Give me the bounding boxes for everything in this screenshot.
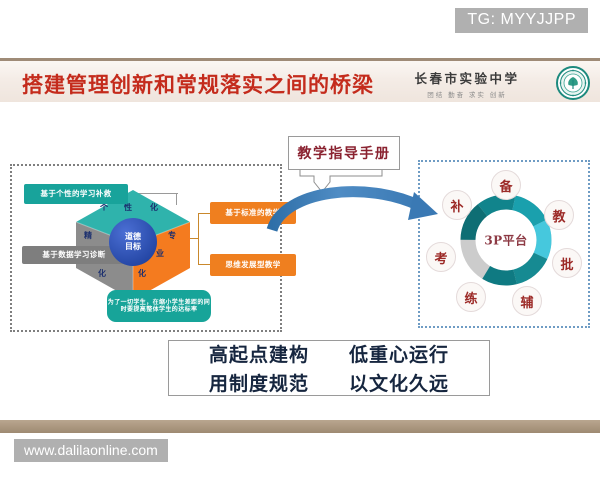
motto-box: 高起点建构 低重心运行 用制度规范 以文化久远	[168, 340, 490, 396]
slide-header-banner: 搭建管理创新和常规落实之间的桥梁 长春市实验中学 团结 勤奋 求实 创新	[0, 58, 600, 102]
node-kao[interactable]: 考	[426, 242, 456, 272]
hexagon-core-line1: 道德	[125, 232, 141, 242]
hex-char-zhuan: 专	[168, 230, 176, 241]
school-branding: 长春市实验中学 团结 勤奋 求实 创新	[392, 68, 542, 99]
node-bei[interactable]: 备	[491, 170, 521, 200]
left-diagram-panel: 个 性 化 精 确 化 专 业 化 道德 目标 基于个性的学习补救 基于数据学习…	[10, 164, 282, 332]
node-lian[interactable]: 练	[456, 282, 486, 312]
slide-canvas: 搭建管理创新和常规落实之间的桥梁 长春市实验中学 团结 勤奋 求实 创新	[0, 48, 600, 433]
hexagon-core-label: 道德 目标	[109, 218, 157, 266]
platform-center-label: 3P平台	[484, 232, 527, 249]
motto-line-4: 以文化久远	[349, 369, 449, 396]
school-motto: 团结 勤奋 求实 创新	[392, 89, 542, 99]
hex-char-hua2: 化	[98, 268, 106, 279]
connector-line-c	[198, 213, 210, 214]
motto-line-2: 低重心运行	[349, 340, 449, 367]
node-fu[interactable]: 辅	[512, 286, 542, 316]
hexagon-core-line2: 目标	[125, 242, 141, 252]
node-pi[interactable]: 批	[552, 248, 582, 278]
tag-thinking-development-teaching[interactable]: 思维发展型教学	[210, 254, 296, 276]
motto-line-1: 高起点建构	[209, 340, 309, 367]
page-title: 搭建管理创新和常规落实之间的桥梁	[22, 69, 374, 99]
hex-char-jing: 精	[84, 230, 92, 241]
bridge-arrow-group	[270, 166, 460, 246]
tag-personalized-remediation[interactable]: 基于个性的学习补救	[24, 184, 128, 204]
teaching-manual-box[interactable]: 教学指导手册	[288, 136, 400, 170]
school-logo-icon	[556, 66, 590, 100]
connector-line-d	[198, 264, 210, 265]
hex-char-ye: 业	[156, 248, 164, 259]
site-watermark: www.dalilaonline.com	[14, 439, 168, 462]
telegram-watermark: TG: MYYJJPP	[455, 8, 588, 33]
hex-char-hua1: 化	[150, 202, 158, 213]
slide-footer-strip	[0, 420, 600, 433]
motto-line-3: 用制度规范	[209, 369, 309, 396]
hex-char-hua3: 化	[138, 268, 146, 279]
node-jiao[interactable]: 教	[544, 200, 574, 230]
motto-grid: 高起点建构 低重心运行 用制度规范 以文化久远	[209, 340, 449, 396]
tag-goal-statement[interactable]: 为了一切学生，在缩小学生差距的同时要提高整体学生的达标率	[107, 290, 211, 322]
school-name: 长春市实验中学	[392, 68, 542, 87]
